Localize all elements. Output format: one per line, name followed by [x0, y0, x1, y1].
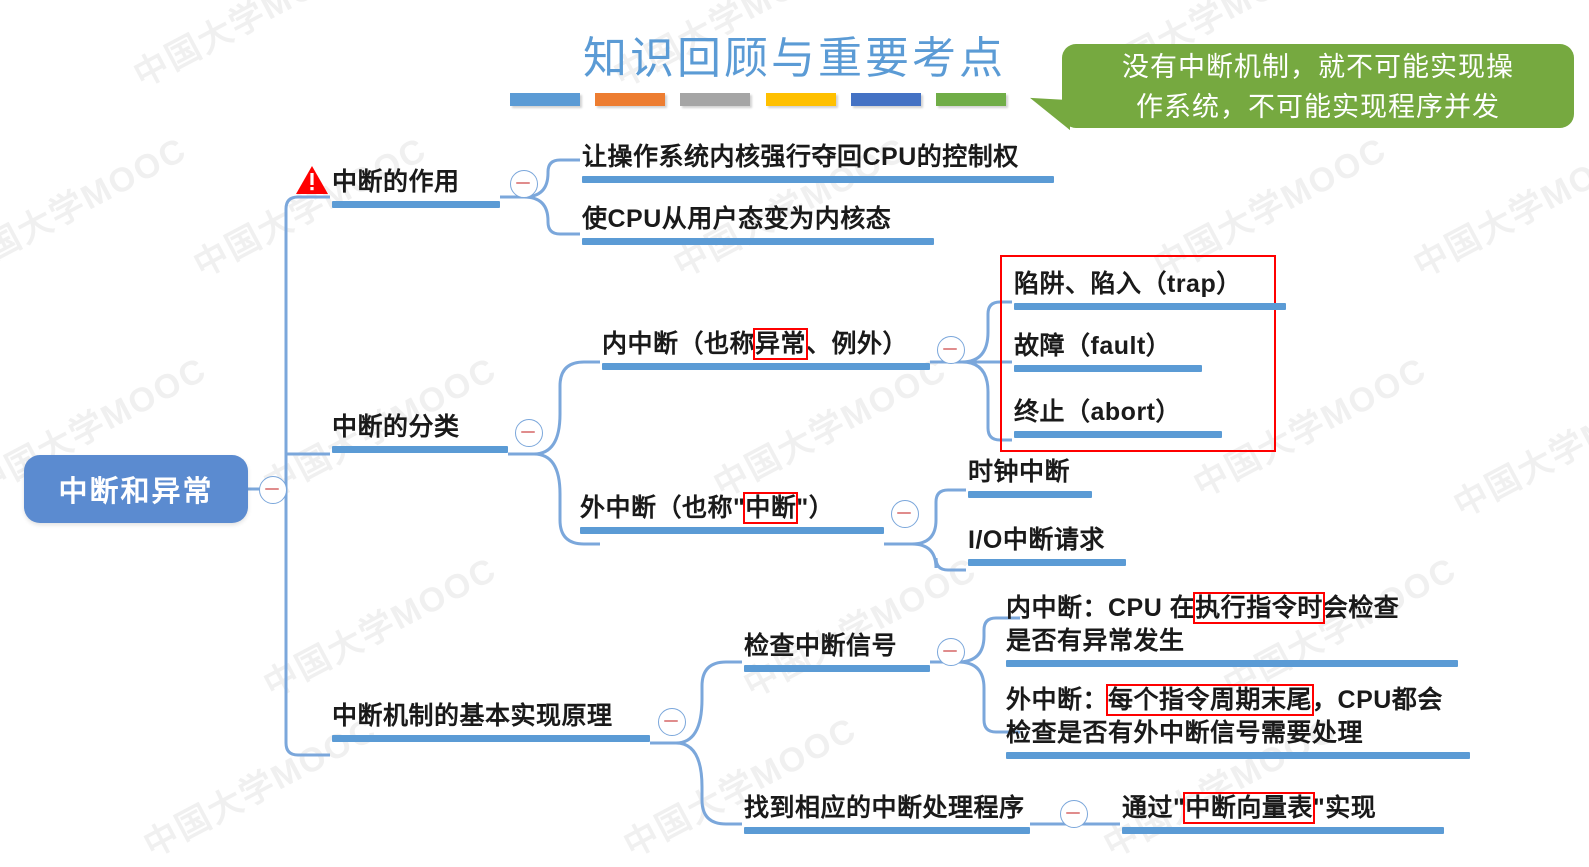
highlight-interrupt: 中断	[745, 494, 796, 522]
node-label-line-2: 检查是否有外中断信号需要处理	[1006, 717, 1470, 750]
node-label-post: "）	[796, 494, 834, 522]
collapse-toggle-classification[interactable]	[515, 419, 543, 447]
collapse-toggle-interrupt-role[interactable]	[510, 170, 538, 198]
node-label: 中断的分类	[332, 411, 508, 444]
node-label: 陷阱、陷入（trap）	[1014, 268, 1286, 301]
node-label-pre: 通过"	[1122, 794, 1185, 822]
node-underline	[332, 735, 650, 742]
node-internal-interrupt[interactable]: 内中断（也称异常、例外）	[602, 328, 930, 370]
node-label: I/O中断请求	[968, 524, 1126, 557]
node-underline	[1014, 303, 1286, 310]
root-label: 中断和异常	[58, 468, 213, 510]
node-external-interrupt[interactable]: 外中断（也称"中断"）	[580, 492, 884, 534]
node-abort[interactable]: 终止（abort）	[1014, 396, 1222, 438]
mindmap-root-node[interactable]: 中断和异常	[24, 455, 248, 523]
node-label-pre: 外中断（也称"	[580, 494, 745, 522]
node-label: 内中断（也称异常、例外）	[602, 328, 930, 361]
node-interrupt-role[interactable]: 中断的作用	[332, 166, 500, 208]
node-underline	[332, 201, 500, 208]
node-underline	[1014, 431, 1222, 438]
node-underline	[582, 238, 934, 245]
node-underline	[580, 527, 884, 534]
node-interrupt-classification[interactable]: 中断的分类	[332, 411, 508, 453]
collapse-toggle-external-interrupt[interactable]	[891, 500, 919, 528]
node-underline	[582, 176, 1054, 183]
node-role-child-1[interactable]: 让操作系统内核强行夺回CPU的控制权	[582, 141, 1054, 183]
node-fault[interactable]: 故障（fault）	[1014, 330, 1202, 372]
node-underline	[744, 665, 930, 672]
node-underline	[968, 491, 1092, 498]
collapse-toggle-root[interactable]	[259, 476, 287, 504]
node-underline	[332, 446, 508, 453]
node-io-interrupt-request[interactable]: I/O中断请求	[968, 524, 1126, 566]
node-underline	[744, 827, 1030, 834]
highlight-vector-table: 中断向量表	[1185, 794, 1313, 822]
node-interrupt-vector-table[interactable]: 通过"中断向量表"实现	[1122, 792, 1444, 834]
node-label: 内中断：CPU 在执行指令时会检查 是否有异常发生	[1006, 592, 1458, 658]
highlight-exception: 异常	[755, 330, 806, 358]
node-label-line-2: 是否有异常发生	[1006, 625, 1458, 658]
highlight-execute-instruction: 执行指令时	[1195, 594, 1323, 622]
node-external-check-detail[interactable]: 外中断：每个指令周期末尾，CPU都会 检查是否有外中断信号需要处理	[1006, 684, 1470, 759]
collapse-toggle-internal-interrupt[interactable]	[937, 336, 965, 364]
node-underline	[1122, 827, 1444, 834]
collapse-toggle-find-handler[interactable]	[1060, 800, 1088, 828]
collapse-toggle-mechanism[interactable]	[658, 708, 686, 736]
node-label: 使CPU从用户态变为内核态	[582, 203, 934, 236]
node-label: 检查中断信号	[744, 630, 930, 663]
node-label: 终止（abort）	[1014, 396, 1222, 429]
node-underline	[1006, 660, 1458, 667]
node-role-child-2[interactable]: 使CPU从用户态变为内核态	[582, 203, 934, 245]
slide-canvas: 中国大学MOOC 中国大学MOOC 中国大学MOOC 中国大学MOOC 中国大学…	[0, 0, 1589, 841]
node-label: 外中断（也称"中断"）	[580, 492, 884, 525]
node-trap[interactable]: 陷阱、陷入（trap）	[1014, 268, 1286, 310]
node-label: 找到相应的中断处理程序	[744, 792, 1030, 825]
highlight-instruction-cycle-end: 每个指令周期末尾	[1108, 686, 1312, 714]
node-label: 时钟中断	[968, 456, 1092, 489]
node-label-post: ，CPU都会	[1312, 686, 1443, 714]
node-label-pre: 内中断：CPU 在	[1006, 594, 1195, 622]
node-label-post: "实现	[1313, 794, 1376, 822]
node-label-pre: 外中断：	[1006, 686, 1108, 714]
node-underline	[968, 559, 1126, 566]
node-label: 中断的作用	[332, 166, 500, 199]
node-check-interrupt-signal[interactable]: 检查中断信号	[744, 630, 930, 672]
node-underline	[1006, 752, 1470, 759]
node-label: 通过"中断向量表"实现	[1122, 792, 1444, 825]
node-interrupt-mechanism-principle[interactable]: 中断机制的基本实现原理	[332, 700, 650, 742]
node-underline	[602, 363, 930, 370]
node-label: 中断机制的基本实现原理	[332, 700, 650, 733]
node-label-post: 、例外）	[806, 330, 908, 358]
node-internal-check-detail[interactable]: 内中断：CPU 在执行指令时会检查 是否有异常发生	[1006, 592, 1458, 667]
node-clock-interrupt[interactable]: 时钟中断	[968, 456, 1092, 498]
node-find-interrupt-handler[interactable]: 找到相应的中断处理程序	[744, 792, 1030, 834]
warning-triangle-icon	[295, 165, 329, 195]
node-label-post: 会检查	[1323, 594, 1400, 622]
node-underline	[1014, 365, 1202, 372]
node-label-pre: 内中断（也称	[602, 330, 755, 358]
node-label: 故障（fault）	[1014, 330, 1202, 363]
collapse-toggle-check-signal[interactable]	[937, 638, 965, 666]
node-label: 让操作系统内核强行夺回CPU的控制权	[582, 141, 1054, 174]
node-label: 外中断：每个指令周期末尾，CPU都会 检查是否有外中断信号需要处理	[1006, 684, 1470, 750]
